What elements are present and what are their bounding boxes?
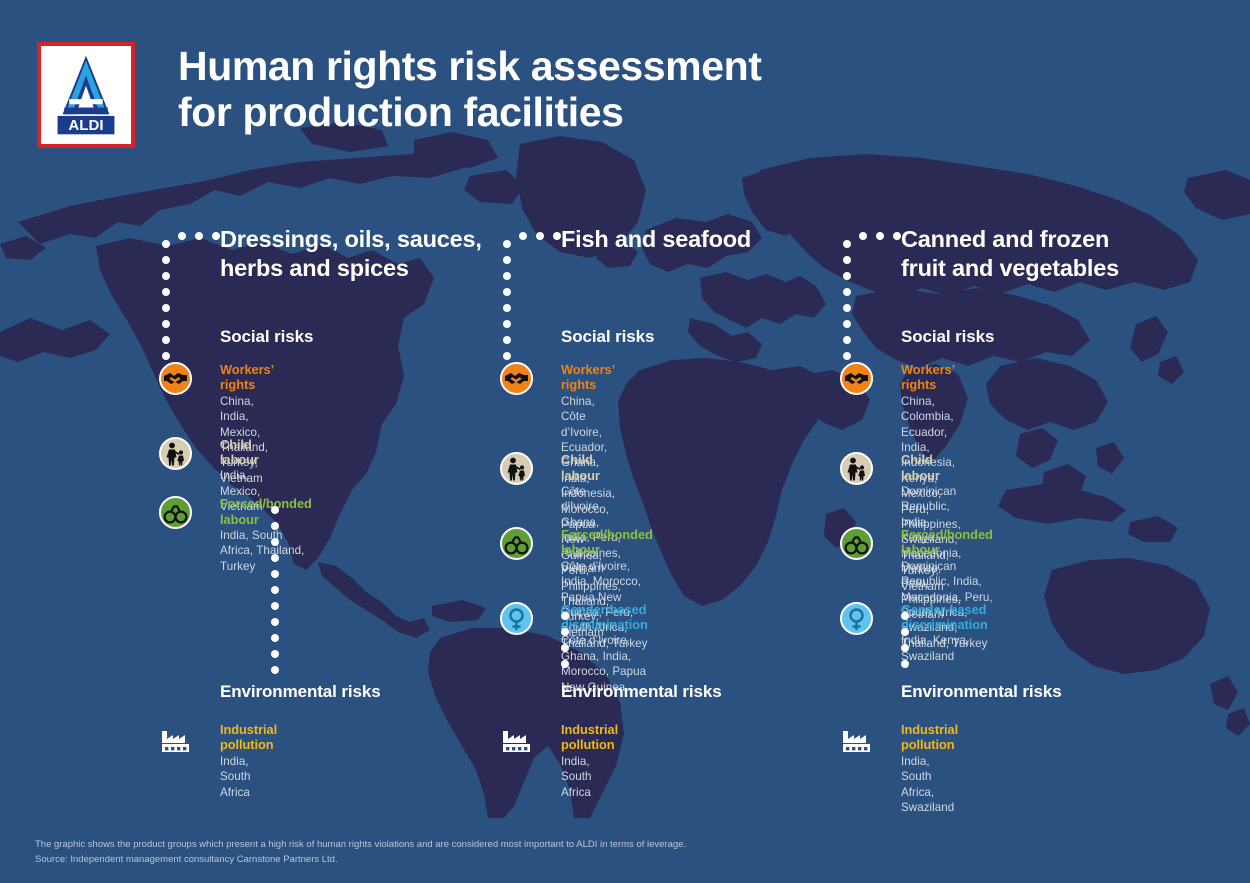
column-title: Dressings, oils, sauces, herbs and spice… (220, 225, 482, 283)
factory-icon (840, 722, 873, 755)
risk-text-block: Industrial pollutionIndia, South Africa (220, 722, 277, 800)
header: ALDI Human rights risk assessment for pr… (0, 0, 1250, 160)
risk-label: Gender-based discrimination (561, 602, 648, 633)
handshake-icon (840, 362, 873, 395)
risk-text-block: Forced/bonded labourIndia, South Africa,… (220, 496, 312, 574)
footer-line-1: The graphic shows the product groups whi… (35, 837, 1135, 852)
environmental-risks-heading: Environmental risks (220, 682, 381, 702)
risk-countries: India, South Africa, Thailand, Turkey (220, 528, 312, 574)
risk-text-block: Gender-based discriminationIndia, Kenya,… (901, 602, 988, 665)
handshake-icon (500, 362, 533, 395)
rail-dot (561, 644, 569, 652)
social-risks-heading: Social risks (901, 327, 994, 347)
risk-countries: India, Kenya, Swaziland (901, 633, 988, 664)
rail-dot (901, 612, 909, 620)
risk-label: Forced/bonded labour (901, 527, 993, 558)
social-risks-heading: Social risks (220, 327, 313, 347)
handcuffs-icon (159, 496, 192, 529)
risk-label: Workers’ rights (901, 362, 961, 393)
footer-line-2: Source: Independent management consultan… (35, 852, 1135, 867)
risk-label: Industrial pollution (561, 722, 618, 753)
adult-and-child-icon (500, 452, 533, 485)
rail-dot (901, 660, 909, 668)
factory-icon (500, 722, 533, 755)
environmental-risks-heading: Environmental risks (901, 682, 1062, 702)
risk-label: Forced/bonded labour (220, 496, 312, 527)
rail-dot (561, 660, 569, 668)
risk-label: Forced/bonded labour (561, 527, 653, 558)
risk-countries: India, South Africa (220, 754, 277, 800)
environmental-risks-heading: Environmental risks (561, 682, 722, 702)
social-risks-heading: Social risks (561, 327, 654, 347)
column-title: Fish and seafood (561, 225, 751, 254)
rail-dot (901, 628, 909, 636)
risk-label: Child labour (561, 452, 621, 483)
rail-dot (901, 644, 909, 652)
risk-countries: India, South Africa, Swaziland (901, 754, 958, 816)
risk-label: Workers’ rights (561, 362, 621, 393)
factory-icon (159, 722, 192, 755)
adult-and-child-icon (840, 452, 873, 485)
adult-and-child-icon (159, 437, 192, 470)
risk-label: Child labour (901, 452, 961, 483)
risk-text-block: Industrial pollutionIndia, South Africa (561, 722, 618, 800)
risk-label: Gender-based discrimination (901, 602, 988, 633)
risk-label: Workers’ rights (220, 362, 273, 393)
risk-label: Industrial pollution (220, 722, 277, 753)
svg-text:ALDI: ALDI (68, 117, 103, 134)
page-title: Human rights risk assessment for product… (178, 44, 998, 136)
rail-dot (561, 628, 569, 636)
risk-label: Industrial pollution (901, 722, 958, 753)
handcuffs-icon (500, 527, 533, 560)
female-gender-icon (500, 602, 533, 635)
handshake-icon (159, 362, 192, 395)
risk-countries: India, South Africa (561, 754, 618, 800)
rail-dot (561, 612, 569, 620)
infographic-page: ALDI Human rights risk assessment for pr… (0, 0, 1250, 883)
column-title: Canned and frozen fruit and vegetables (901, 225, 1119, 283)
handcuffs-icon (840, 527, 873, 560)
female-gender-icon (840, 602, 873, 635)
risk-text-block: Industrial pollutionIndia, South Africa,… (901, 722, 958, 815)
aldi-logo: ALDI (37, 42, 135, 148)
footer-note: The graphic shows the product groups whi… (35, 837, 1135, 867)
risk-label: Child labour (220, 437, 263, 468)
